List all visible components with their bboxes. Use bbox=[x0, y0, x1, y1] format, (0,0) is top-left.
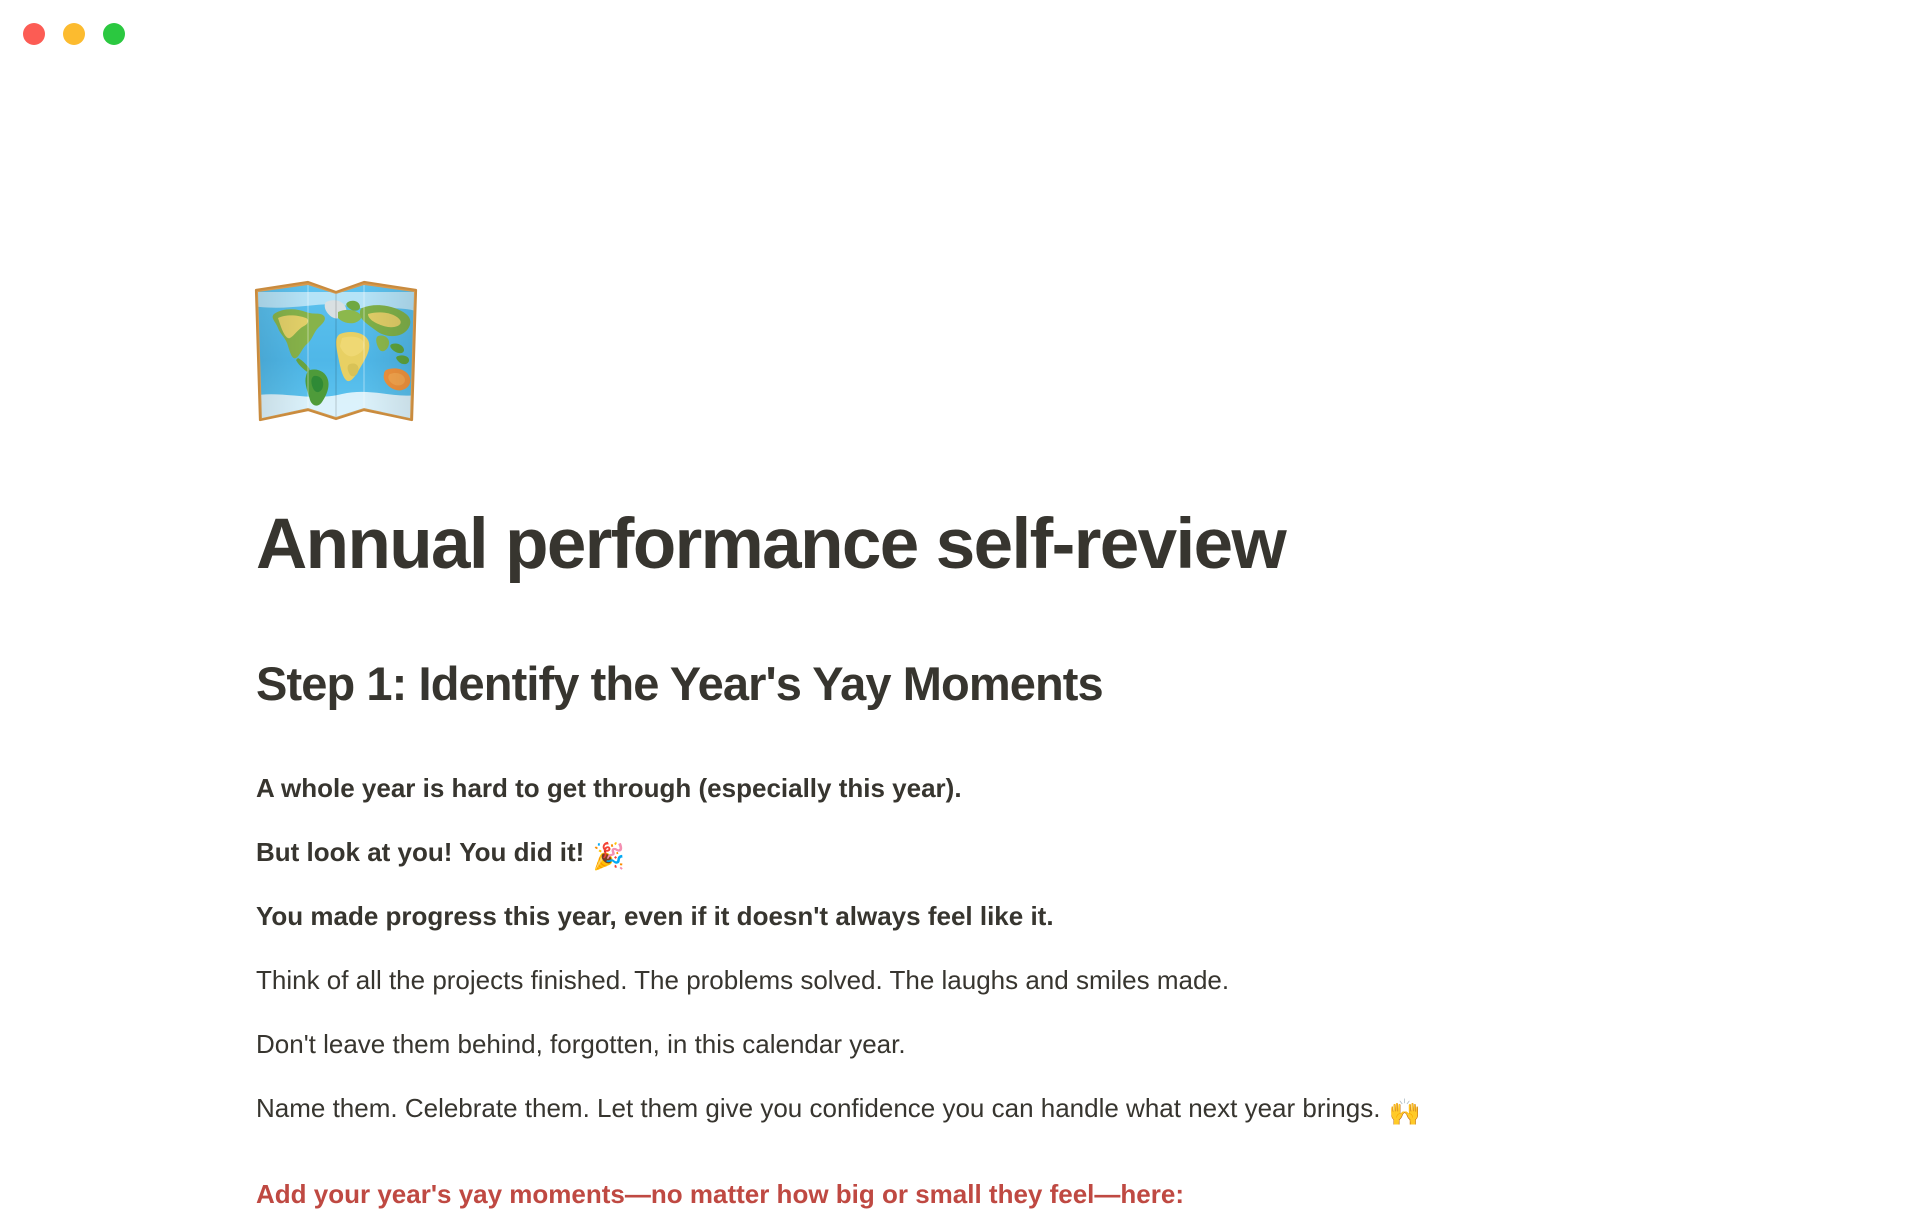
document-page: Annual performance self-review Step 1: I… bbox=[0, 0, 1920, 1200]
paragraph-block-1[interactable]: A whole year is hard to get through (esp… bbox=[256, 769, 962, 808]
paragraph-block-7-callout[interactable]: Add your year's yay moments—no matter ho… bbox=[256, 1175, 1184, 1214]
world-map-icon[interactable] bbox=[252, 278, 420, 428]
raising-hands-emoji: 🙌 bbox=[1389, 1093, 1421, 1132]
paragraph-text: You made progress this year, even if it … bbox=[256, 901, 1054, 931]
paragraph-text: Don't leave them behind, forgotten, in t… bbox=[256, 1029, 906, 1059]
paragraph-text: But look at you! You did it! bbox=[256, 837, 584, 867]
paragraph-block-4[interactable]: Think of all the projects finished. The … bbox=[256, 961, 1229, 1000]
page-title[interactable]: Annual performance self-review bbox=[256, 505, 1285, 585]
paragraph-block-3[interactable]: You made progress this year, even if it … bbox=[256, 897, 1054, 936]
paragraph-block-2[interactable]: But look at you! You did it! 🎉 bbox=[256, 833, 625, 876]
section-heading-step-1[interactable]: Step 1: Identify the Year's Yay Moments bbox=[256, 656, 1103, 712]
paragraph-block-6[interactable]: Name them. Celebrate them. Let them give… bbox=[256, 1089, 1421, 1132]
paragraph-block-5[interactable]: Don't leave them behind, forgotten, in t… bbox=[256, 1025, 906, 1064]
paragraph-text: Add your year's yay moments—no matter ho… bbox=[256, 1179, 1184, 1209]
paragraph-text: Name them. Celebrate them. Let them give… bbox=[256, 1093, 1380, 1123]
paragraph-text: A whole year is hard to get through (esp… bbox=[256, 773, 962, 803]
paragraph-text: Think of all the projects finished. The … bbox=[256, 965, 1229, 995]
party-popper-emoji: 🎉 bbox=[593, 837, 625, 876]
